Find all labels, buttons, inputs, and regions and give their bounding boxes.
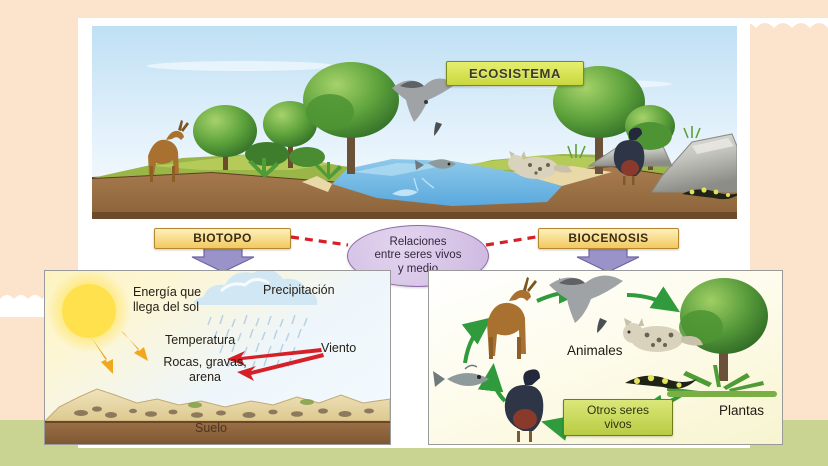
sand-surface [45,389,390,421]
biotopo-panel: Energía que llega del sol Temperatura Ro… [44,270,391,445]
animals-label: Animales [567,343,623,359]
connector-band: BIOTOPO BIOCENOSIS Relaciones entre sere… [92,224,737,272]
ecosystem-title-badge: ECOSISTEMA [446,61,584,86]
soil-label: Suelo [195,421,227,436]
plants-label: Plantas [719,403,764,419]
other-beings-line-2: vivos [574,417,662,431]
ecosystem-illustration: ECOSISTEMA [92,26,737,219]
salamander-illustration [625,375,697,389]
temperature-label: Temperatura [165,333,235,348]
wind-label: Viento [321,341,356,356]
dashed-connector-right [486,237,536,245]
biocenosis-panel: Animales Plantas Otros seres vivos [428,270,783,445]
relations-line-1: Relaciones [375,236,462,250]
other-beings-badge: Otros seres vivos [563,399,673,436]
deer-illustration [487,277,537,359]
biocenosis-badge: BIOCENOSIS [538,228,679,249]
tree-illustration [679,278,768,381]
solar-energy-label: Energía que llega del sol [133,285,201,314]
grouse-illustration [505,369,543,442]
ecosystem-scene-graphic [92,26,737,219]
precipitation-label: Precipitación [263,283,335,298]
biotopo-badge: BIOTOPO [154,228,291,249]
rocks-gravel-label: Rocas, gravas, arena [149,355,261,384]
page-root: ECOSISTEMA BIOTOPO BIOCENOSIS Relaciones… [0,0,828,466]
hawk-illustration [549,275,623,333]
dashed-connector-left [291,237,348,245]
sun-disc [62,284,116,338]
down-arrow-biotopo [192,247,254,272]
fish-illustration [433,365,489,387]
down-arrow-biocenosis [577,247,639,272]
fern-illustration [667,365,764,395]
relations-line-2: entre seres vivos [375,249,462,263]
other-beings-line-1: Otros seres [574,403,662,417]
